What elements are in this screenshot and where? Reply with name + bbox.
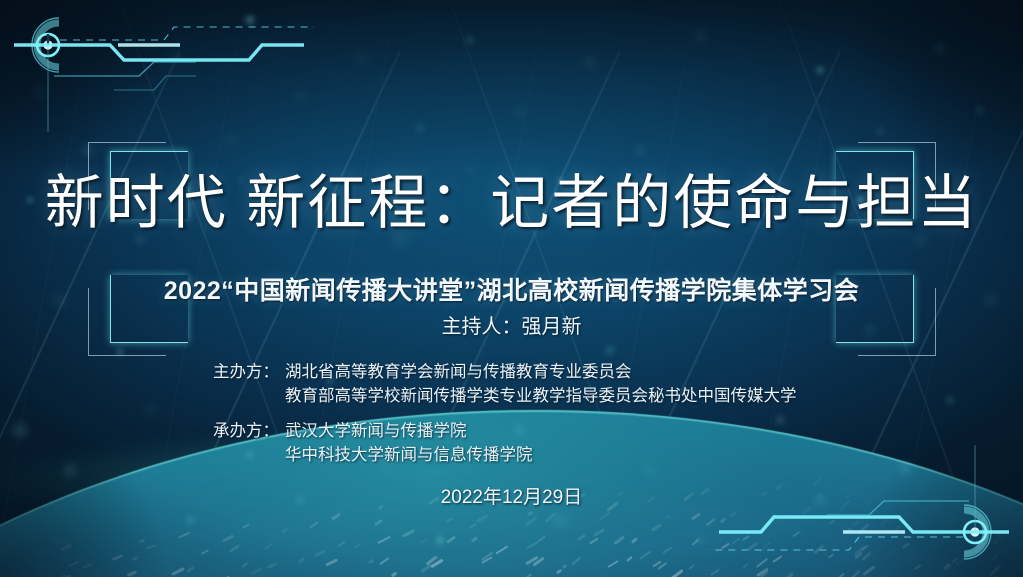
organizer-block: 主办方： 湖北省高等教育学会新闻与传播教育专业委员会 教育部高等学校新闻传播学类… (213, 360, 797, 467)
slide-title: 新时代 新征程：记者的使命与担当 (0, 172, 1023, 236)
organizer-line-2: 教育部高等学校新闻传播学类专业教学指导委员会秘书处中国传媒大学 (285, 384, 797, 408)
slide-text-layer: 新时代 新征程：记者的使命与担当 2022“中国新闻传播大讲堂”湖北高校新闻传播… (0, 0, 1023, 577)
executor-line-1: 武汉大学新闻与传播学院 (285, 419, 533, 443)
executor-label: 承办方： (213, 419, 279, 443)
executor-row: 承办方： 武汉大学新闻与传播学院 华中科技大学新闻与信息传播学院 (213, 419, 797, 468)
slide-date: 2022年12月29日 (0, 482, 1023, 509)
host-line: 主持人：强月新 (0, 310, 1023, 339)
organizer-lines: 湖北省高等教育学会新闻与传播教育专业委员会 教育部高等学校新闻传播学类专业教学指… (285, 360, 797, 409)
organizer-line-1: 湖北省高等教育学会新闻与传播教育专业委员会 (285, 360, 797, 384)
executor-lines: 武汉大学新闻与传播学院 华中科技大学新闻与信息传播学院 (285, 419, 533, 468)
slide-subtitle: 2022“中国新闻传播大讲堂”湖北高校新闻传播学院集体学习会 (0, 271, 1023, 307)
organizer-row: 主办方： 湖北省高等教育学会新闻与传播教育专业委员会 教育部高等学校新闻传播学类… (213, 360, 797, 409)
executor-line-2: 华中科技大学新闻与信息传播学院 (285, 443, 533, 467)
presentation-slide: 新时代 新征程：记者的使命与担当 2022“中国新闻传播大讲堂”湖北高校新闻传播… (0, 0, 1023, 577)
organizer-label: 主办方： (213, 360, 279, 384)
